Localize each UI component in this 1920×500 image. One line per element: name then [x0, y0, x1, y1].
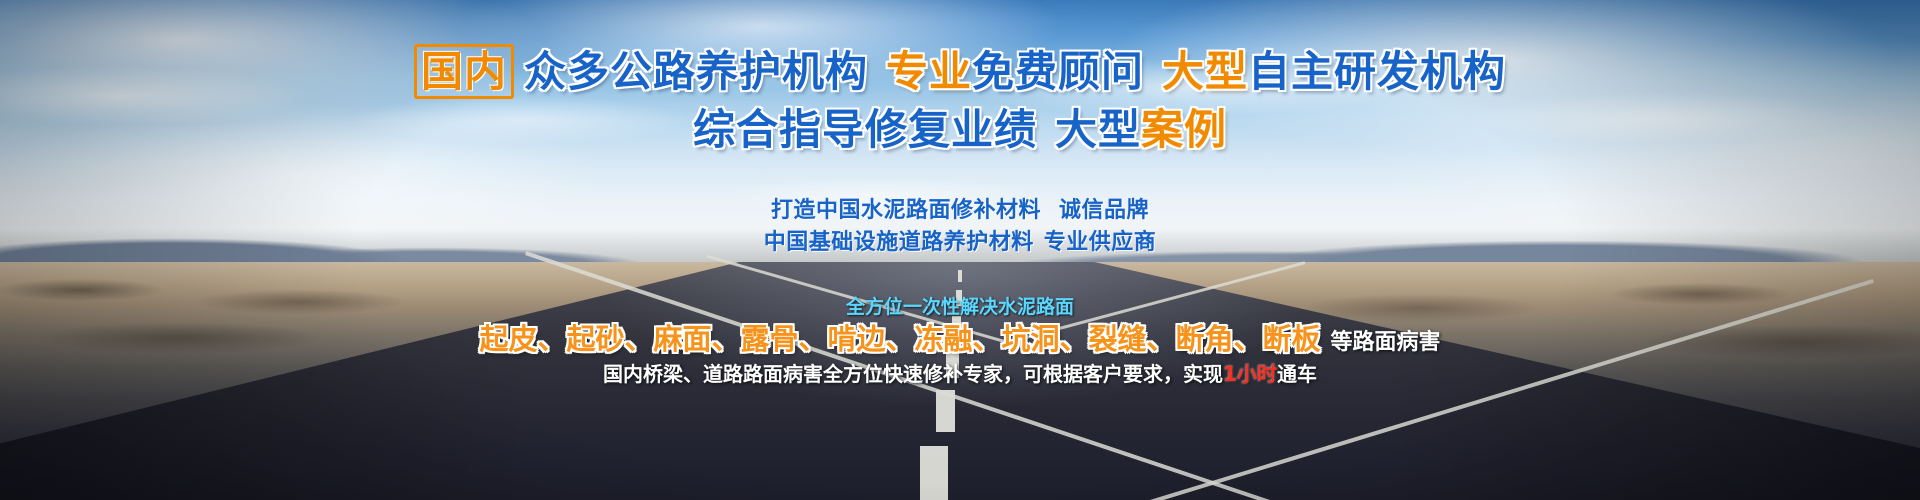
headline-1-seg-4: 免费顾问 — [972, 47, 1144, 96]
headline-2-seg-2: 大型 — [1055, 105, 1141, 154]
promotional-banner: 国内众多公路养护机构专业免费顾问大型自主研发机构 综合指导修复业绩大型案例 打造… — [0, 0, 1920, 500]
disease-list-suffix: 等路面病害 — [1331, 330, 1441, 355]
headline-1-seg-5: 大型 — [1162, 47, 1248, 96]
guarantee-text-start: 国内桥梁、道路路面病害全方位快速修补专家，可根据客户要求，实现 — [603, 362, 1223, 386]
subheadline-line-1: 打造中国水泥路面修补材料诚信品牌 — [0, 192, 1920, 224]
guarantee-highlight: 1小时 — [1223, 362, 1277, 386]
headline-1-seg-2: 众多公路养护机构 — [524, 47, 868, 96]
headline-1-seg-1: 国内 — [414, 44, 514, 99]
subheadline-2-role: 专业供应商 — [1044, 230, 1157, 255]
guarantee-text-end: 通车 — [1277, 362, 1317, 386]
headline-1-seg-6: 自主研发机构 — [1248, 47, 1506, 96]
subheadline-1-brand: 诚信品牌 — [1059, 198, 1149, 223]
headline-line-1: 国内众多公路养护机构专业免费顾问大型自主研发机构 — [0, 46, 1920, 98]
headline-line-2: 综合指导修复业绩大型案例 — [0, 104, 1920, 156]
subheadline-2-text: 中国基础设施道路养护材料 — [764, 230, 1034, 255]
solution-tagline: 全方位一次性解决水泥路面 — [0, 292, 1920, 319]
headline-2-seg-1: 综合指导修复业绩 — [693, 105, 1037, 154]
headline-2-seg-3: 案例 — [1141, 105, 1227, 154]
disease-list: 起皮、起砂、麻面、露骨、啃边、冻融、坑洞、裂缝、断角、断板 — [479, 322, 1320, 356]
disease-list-line: 起皮、起砂、麻面、露骨、啃边、冻融、坑洞、裂缝、断角、断板等路面病害 — [0, 316, 1920, 358]
banner-content: 国内众多公路养护机构专业免费顾问大型自主研发机构 综合指导修复业绩大型案例 打造… — [0, 0, 1920, 500]
headline-1-seg-3: 专业 — [886, 47, 972, 96]
subheadline-line-2: 中国基础设施道路养护材料专业供应商 — [0, 224, 1920, 256]
guarantee-line: 国内桥梁、道路路面病害全方位快速修补专家，可根据客户要求，实现1小时通车 — [0, 358, 1920, 387]
subheadline-1-text: 打造中国水泥路面修补材料 — [771, 198, 1041, 223]
